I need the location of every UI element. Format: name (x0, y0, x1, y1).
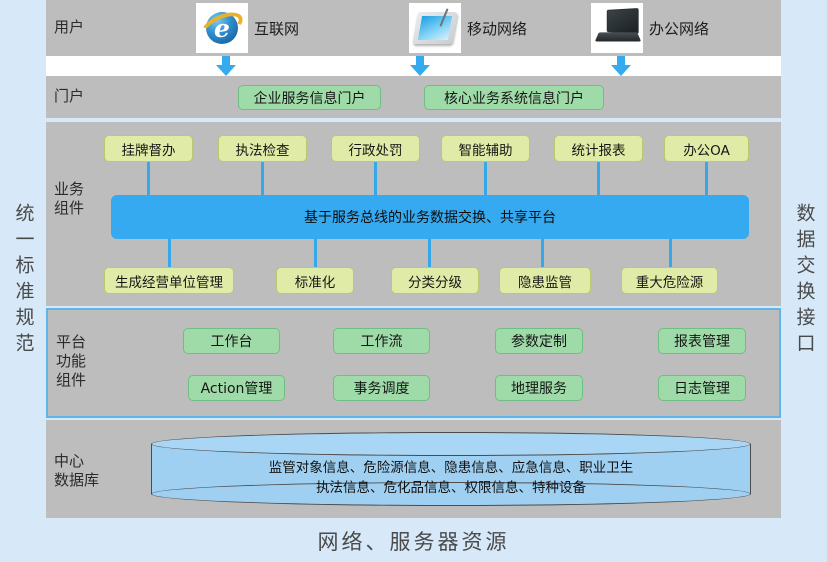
connector-line (147, 162, 150, 195)
business-box-classification-grade[interactable]: 分类分级 (391, 267, 479, 294)
user-mobile-network[interactable]: 移动网络 (409, 3, 527, 53)
business-box-statistical-report[interactable]: 统计报表 (554, 135, 643, 162)
connector-line (374, 162, 377, 195)
user-internet-label: 互联网 (254, 18, 299, 39)
diagram-canvas: 统一标准规范 数据交换接口 用户 e 互联网 移动网络 办公网络 (0, 0, 827, 562)
down-arrow-icon (410, 56, 430, 76)
portal-row: 门户 企业服务信息门户 核心业务系统信息门户 (46, 76, 781, 118)
connector-line (428, 239, 431, 267)
down-arrow-icon (216, 56, 236, 76)
user-internet[interactable]: e 互联网 (196, 3, 299, 53)
database-line-1: 监管对象信息、危险源信息、隐患信息、应急信息、职业卫生 (269, 458, 634, 478)
business-box-office-oa[interactable]: 办公OA (664, 135, 749, 162)
data-exchange-interface-label: 数据交换接口 (795, 203, 814, 359)
unified-standard-label: 统一标准规范 (14, 203, 33, 359)
right-side-panel: 数据交换接口 (781, 0, 827, 562)
business-box-hazard-supervision[interactable]: 隐患监管 (499, 267, 591, 294)
connector-line (597, 162, 600, 195)
connector-line (314, 239, 317, 267)
users-row-label: 用户 (54, 18, 84, 37)
platform-components-label: 平台 功能 组件 (56, 333, 86, 389)
connector-line (261, 162, 264, 195)
cylinder-top (151, 432, 751, 456)
platform-box-param-custom[interactable]: 参数定制 (495, 328, 583, 354)
service-bus-bar[interactable]: 基于服务总线的业务数据交换、共享平台 (111, 195, 749, 239)
business-box-production-unit-mgmt[interactable]: 生成经营单位管理 (104, 267, 234, 294)
business-components-row: 业务 组件 挂牌督办 执法检查 行政处罚 智能辅助 统计报表 办公OA 基于服务… (46, 122, 781, 306)
connector-line (705, 162, 708, 195)
connector-line (541, 239, 544, 267)
business-box-standardization[interactable]: 标准化 (276, 267, 354, 294)
database-line-2: 执法信息、危化品信息、权限信息、特种设备 (316, 478, 586, 498)
business-box-intelligent-assist[interactable]: 智能辅助 (441, 135, 530, 162)
platform-box-report-mgmt[interactable]: 报表管理 (658, 328, 746, 354)
platform-box-log-mgmt[interactable]: 日志管理 (658, 375, 746, 401)
connector-line (484, 162, 487, 195)
platform-components-row: 平台 功能 组件 工作台 工作流 参数定制 报表管理 Action管理 事务调度… (46, 308, 781, 418)
down-arrow-icon (611, 56, 631, 76)
business-box-law-inspection[interactable]: 执法检查 (218, 135, 307, 162)
business-box-admin-penalty[interactable]: 行政处罚 (331, 135, 420, 162)
platform-box-geo-service[interactable]: 地理服务 (495, 375, 583, 401)
platform-box-workbench[interactable]: 工作台 (183, 328, 280, 354)
business-box-major-hazard-source[interactable]: 重大危险源 (621, 267, 718, 294)
user-office-network[interactable]: 办公网络 (591, 3, 709, 53)
footer-label: 网络、服务器资源 (318, 526, 510, 556)
portal-row-label: 门户 (54, 87, 84, 106)
platform-box-workflow[interactable]: 工作流 (333, 328, 430, 354)
connector-line (669, 239, 672, 267)
arrows-gap (46, 56, 781, 76)
database-cylinder[interactable]: 监管对象信息、危险源信息、隐患信息、应急信息、职业卫生 执法信息、危化品信息、权… (151, 432, 751, 506)
platform-box-action-mgmt[interactable]: Action管理 (188, 375, 285, 401)
footer-caption: 网络、服务器资源 (46, 520, 781, 562)
platform-box-task-schedule[interactable]: 事务调度 (333, 375, 430, 401)
center-database-row: 中心 数据库 监管对象信息、危险源信息、隐患信息、应急信息、职业卫生 执法信息、… (46, 420, 781, 518)
business-box-supervision-order[interactable]: 挂牌督办 (104, 135, 193, 162)
center-database-label: 中心 数据库 (54, 452, 99, 490)
internet-explorer-icon: e (196, 3, 248, 53)
user-mobile-label: 移动网络 (467, 18, 527, 39)
connector-line (168, 239, 171, 267)
laptop-icon (591, 3, 643, 53)
portal-box-core-business[interactable]: 核心业务系统信息门户 (424, 85, 604, 110)
portal-box-enterprise-service[interactable]: 企业服务信息门户 (238, 85, 381, 110)
user-office-label: 办公网络 (649, 18, 709, 39)
left-side-panel: 统一标准规范 (0, 0, 46, 562)
users-row: 用户 e 互联网 移动网络 办公网络 (46, 0, 781, 56)
database-content-text: 监管对象信息、危险源信息、隐患信息、应急信息、职业卫生 执法信息、危化品信息、权… (151, 456, 751, 500)
business-components-label: 业务 组件 (54, 180, 84, 218)
tablet-stylus-icon (409, 3, 461, 53)
